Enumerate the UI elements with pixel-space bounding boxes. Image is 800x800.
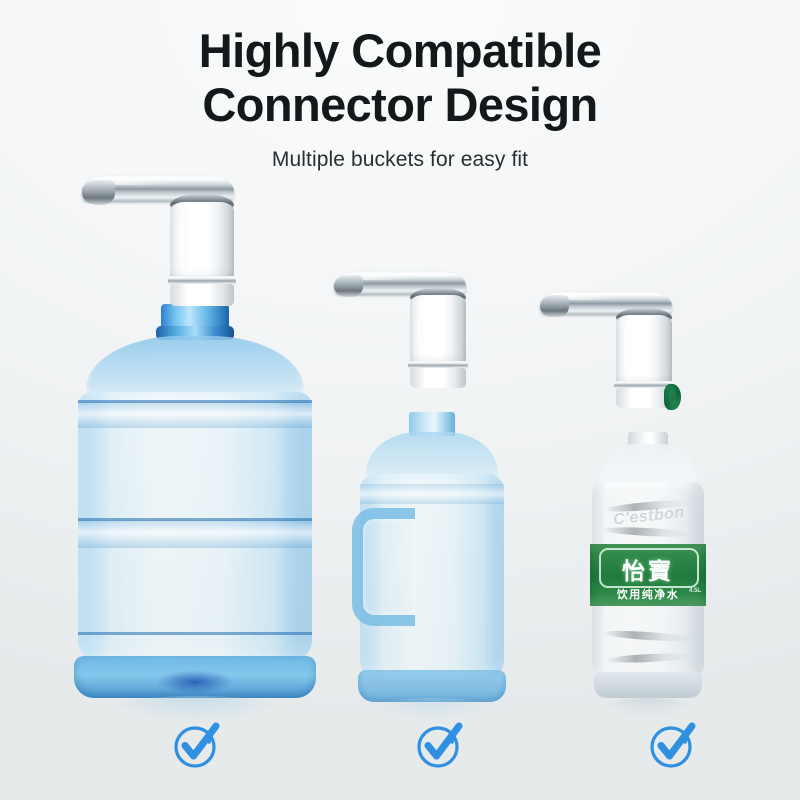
pump-base xyxy=(410,368,466,388)
pump-spout-tip xyxy=(540,295,569,317)
bottle-shoulder xyxy=(366,432,498,480)
water-dispenser-pump-large[interactable] xyxy=(82,176,234,312)
bottle-base xyxy=(594,672,702,698)
bottle-reflection xyxy=(600,698,696,718)
page-title: Highly Compatible Connector Design xyxy=(0,24,800,131)
bottle-rib xyxy=(78,520,312,548)
bottle-shoulder xyxy=(86,336,304,398)
bottle-rib xyxy=(360,484,504,504)
compatibility-check-small xyxy=(645,717,701,773)
compatibility-check-mid xyxy=(412,717,468,773)
bottle-base xyxy=(74,656,316,698)
pump-body xyxy=(170,202,234,280)
bottle-handle xyxy=(352,508,415,626)
bottle-ribline xyxy=(78,632,312,635)
headline-line-2: Connector Design xyxy=(0,78,800,132)
check-circle-arrow-icon xyxy=(169,717,225,773)
product-mid-handled-jug xyxy=(352,412,512,700)
check-circle-arrow-icon xyxy=(412,717,468,773)
product-banner: Highly Compatible Connector Design Multi… xyxy=(0,0,800,800)
headline-line-1: Highly Compatible xyxy=(199,24,601,77)
bottle-rib xyxy=(78,402,312,428)
check-circle-arrow-icon xyxy=(645,717,701,773)
water-dispenser-pump-small[interactable] xyxy=(540,292,672,414)
product-large-blue-bucket xyxy=(74,304,316,696)
bottle-body xyxy=(78,392,312,662)
bottle-swirl xyxy=(602,629,694,643)
pump-pull-tab[interactable] xyxy=(664,384,681,410)
pump-base xyxy=(170,284,234,306)
pump-spout-tip xyxy=(82,180,115,205)
label-volume: 4.5L xyxy=(689,588,701,594)
bottle-ribline xyxy=(78,518,312,521)
page-subtitle: Multiple buckets for easy fit xyxy=(0,148,800,172)
bottle-ribline xyxy=(78,400,312,403)
bottle-label: 怡寶 饮用纯净水 4.5L xyxy=(590,544,706,606)
bottle-swirl xyxy=(606,652,692,664)
label-brand-cn: 怡寶 xyxy=(590,552,706,586)
water-dispenser-pump-mid[interactable] xyxy=(334,272,466,394)
pump-spout-tip xyxy=(334,275,363,297)
product-clear-pet-bottle: C'estbon 怡寶 饮用纯净水 4.5L xyxy=(588,432,708,700)
compatibility-check-large xyxy=(169,717,225,773)
pump-body xyxy=(410,295,466,365)
pump-body xyxy=(616,315,672,385)
